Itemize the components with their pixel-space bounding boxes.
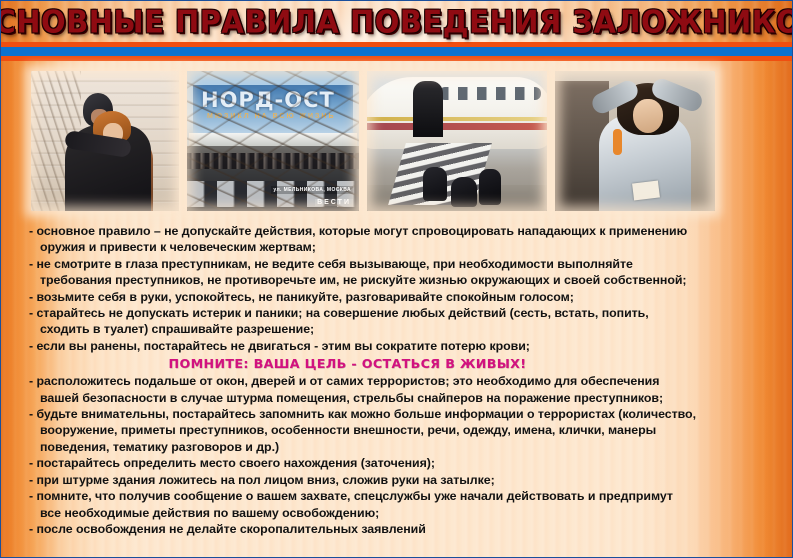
photo3-door	[413, 81, 443, 137]
rule-line: требования преступников, не противоречьт…	[29, 272, 776, 288]
photo3-red-stripe	[367, 123, 547, 130]
photo-hostage-held-by-masked-man	[31, 71, 179, 211]
photo4-document	[632, 180, 660, 200]
rule-line: все необходимые действия по вашему освоб…	[29, 505, 776, 521]
photo3-gold-stripe	[367, 117, 547, 121]
rule-line: - старайтесь не допускать истерик и пани…	[29, 305, 776, 321]
rules-body: - основное правило – не допускайте дейст…	[1, 223, 792, 537]
rule-line: - возьмите себя в руки, успокойтесь, не …	[29, 289, 776, 305]
rule-line: - будьте внимательны, постарайтесь запом…	[29, 406, 776, 422]
rule-line: вооружение, приметы преступников, особен…	[29, 422, 776, 438]
divider-orange-bottom	[1, 56, 792, 61]
rule-line: сходить в туалет) спрашивайте разрешение…	[29, 321, 776, 337]
rule-line: - постарайтесь определить место своего н…	[29, 455, 776, 471]
rule-line: - если вы ранены, постарайтесь не двигат…	[29, 338, 776, 354]
photo-nord-ost-theatre-siege: НОРД-ОСТ МЮЗИКЛ НА ВСЮ ЖИЗНЬ ул. МЕЛЬНИК…	[187, 71, 359, 211]
highlight-remember-banner: ПОМНИТЕ: ВАША ЦЕЛЬ - ОСТАТЬСЯ В ЖИВЫХ!	[29, 354, 776, 373]
divider-blue	[1, 47, 792, 56]
page-title: ОСНОВНЫЕ ПРАВИЛА ПОВЕДЕНИЯ ЗАЛОЖНИКОВ	[0, 3, 793, 39]
photo-freed-hostage-hands-behind-head	[555, 71, 715, 211]
photo3-operative-3	[479, 169, 501, 205]
photo-strip: НОРД-ОСТ МЮЗИКЛ НА ВСЮ ЖИЗНЬ ул. МЕЛЬНИК…	[1, 71, 792, 211]
rule-line: - расположитесь подальше от окон, дверей…	[29, 373, 776, 389]
rule-line: - основное правило – не допускайте дейст…	[29, 223, 776, 239]
photo2-channel-logo: ВЕСТИ	[315, 199, 353, 206]
photo-special-forces-storming-airliner	[367, 71, 547, 211]
rule-line: - не смотрите в глаза преступникам, не в…	[29, 256, 776, 272]
photo3-windows	[439, 87, 541, 100]
rule-line: поведения, тематику разговоров и др.)	[29, 439, 776, 455]
photo3-operative-2	[451, 177, 477, 207]
rule-line: - при штурме здания ложитесь на пол лицо…	[29, 472, 776, 488]
photo3-operative-1	[423, 167, 447, 201]
photo2-location-caption: ул. МЕЛЬНИКОВА, МОСКВА	[271, 186, 353, 194]
poster-root: ОСНОВНЫЕ ПРАВИЛА ПОВЕДЕНИЯ ЗАЛОЖНИКОВ НО…	[0, 0, 793, 558]
photo4-orange-strap	[613, 129, 622, 155]
rule-line: - после освобождения не делайте скоропал…	[29, 521, 776, 537]
rule-line: вашей безопасности в случае штурма помещ…	[29, 390, 776, 406]
title-band: ОСНОВНЫЕ ПРАВИЛА ПОВЕДЕНИЯ ЗАЛОЖНИКОВ	[1, 1, 792, 42]
rule-line: - помните, что получив сообщение о вашем…	[29, 488, 776, 504]
photo4-face	[633, 99, 663, 133]
rule-line: оружия и привести к человеческим жертвам…	[29, 239, 776, 255]
